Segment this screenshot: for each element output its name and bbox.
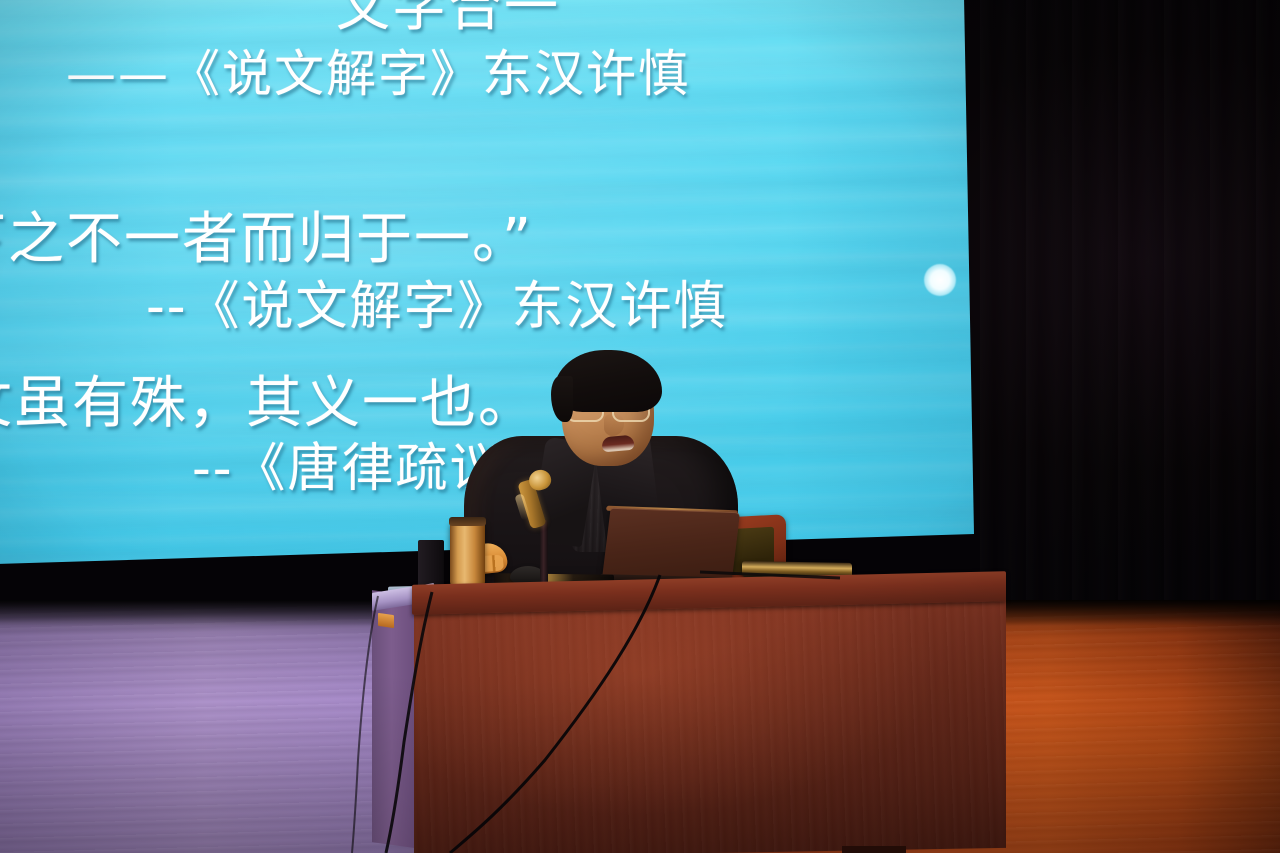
- cable-desk-horizontal: [700, 572, 840, 578]
- cable-paths: [0, 0, 1280, 853]
- cable-front-diagonal: [450, 575, 660, 853]
- cable-left-vertical: [386, 592, 432, 853]
- cables: [0, 0, 1280, 853]
- cable-left-secondary: [352, 596, 378, 853]
- lecture-photo-scene: 文字合一 ——《说文解字》东汉许慎 下之不一者而归于一。” --《说文解字》东汉…: [0, 0, 1280, 853]
